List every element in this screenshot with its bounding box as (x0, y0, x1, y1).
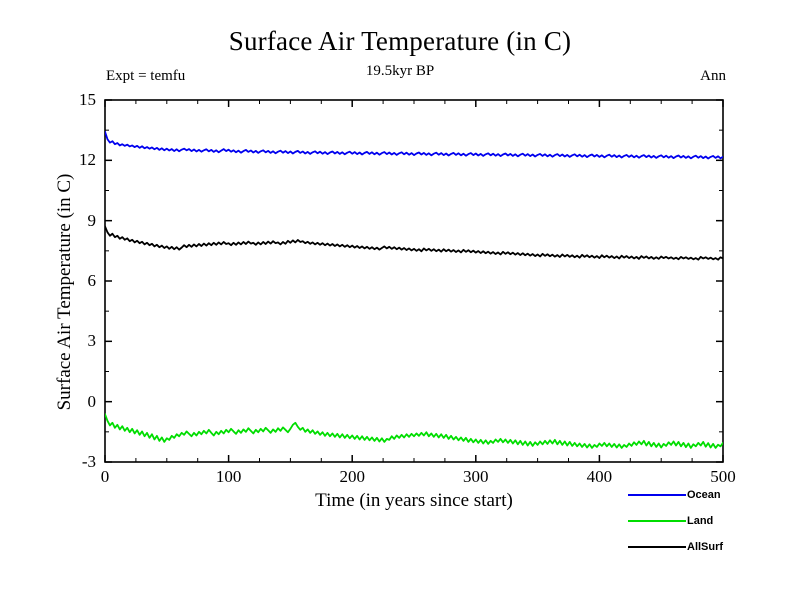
legend-label: Ocean (686, 490, 721, 501)
x-tick-label: 100 (216, 467, 242, 487)
x-tick-label: 0 (101, 467, 110, 487)
y-tick-label: 9 (88, 211, 97, 231)
y-tick-label: 6 (88, 271, 97, 291)
x-tick-label: 200 (339, 467, 365, 487)
y-tick-label: 3 (88, 331, 97, 351)
legend-label: AllSurf (686, 542, 723, 553)
legend-swatch-icon (628, 546, 686, 548)
chart-legend: OceanLandAllSurf (628, 482, 796, 560)
y-tick-label: -3 (82, 452, 96, 472)
legend-label: Land (686, 516, 713, 527)
y-tick-label: 15 (79, 90, 96, 110)
y-tick-label: 0 (88, 392, 97, 412)
y-axis-title: Surface Air Temperature (in C) (54, 111, 76, 473)
x-tick-label: 400 (587, 467, 613, 487)
legend-item-land: Land (628, 508, 796, 534)
legend-swatch-icon (628, 520, 686, 522)
legend-item-allsurf: AllSurf (628, 534, 796, 560)
x-tick-label: 300 (463, 467, 489, 487)
y-tick-label: 12 (79, 150, 96, 170)
chart-figure: Surface Air Temperature (in C) 19.5kyr B… (0, 0, 800, 600)
legend-item-ocean: Ocean (628, 482, 796, 508)
legend-swatch-icon (628, 494, 686, 496)
